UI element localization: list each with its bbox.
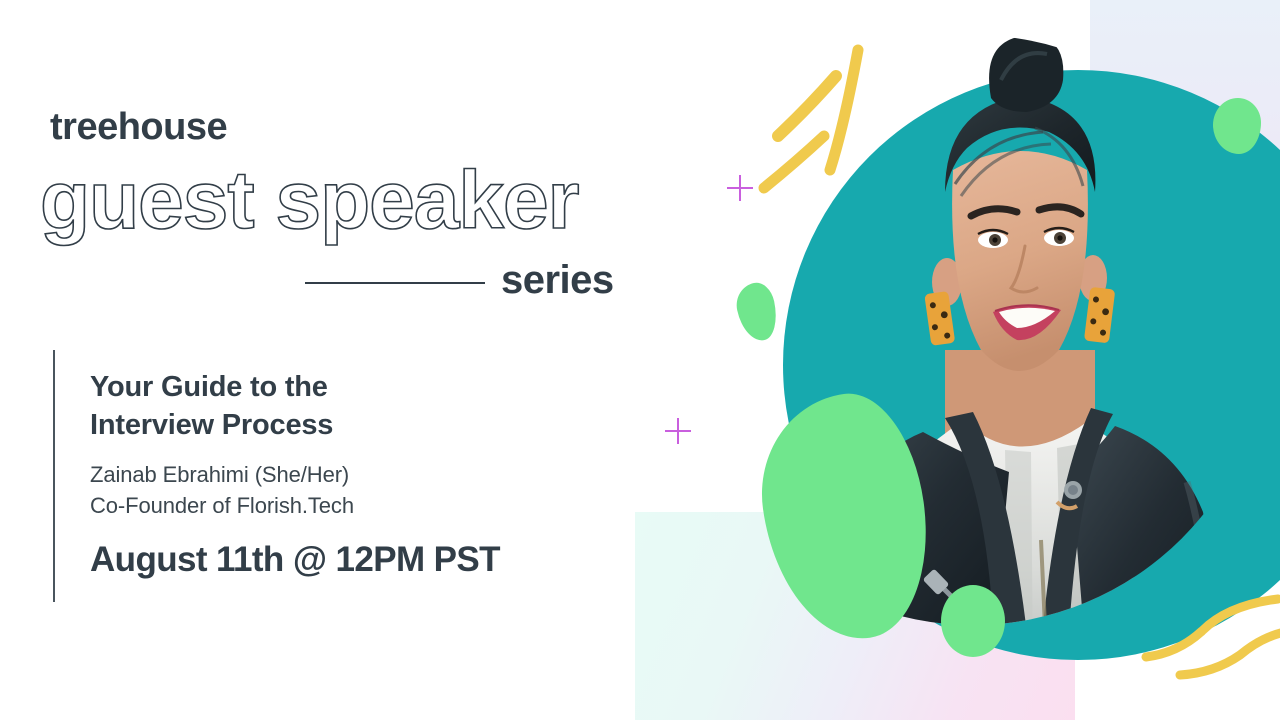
series-label: series xyxy=(501,256,614,304)
yellow-sunburst-icon xyxy=(740,30,930,220)
detail-block: Your Guide to the Interview Process Zain… xyxy=(90,368,630,580)
event-datetime: August 11th @ 12PM PST xyxy=(90,541,630,580)
copy-column: treehouse guest speaker series Your Guid… xyxy=(0,0,680,720)
talk-title-line-1: Your Guide to the xyxy=(90,368,630,406)
green-blob-left-icon xyxy=(732,280,781,345)
talk-title-line-2: Interview Process xyxy=(90,406,630,444)
promo-slide: treehouse guest speaker series Your Guid… xyxy=(0,0,1280,720)
headline-outline-text: guest speaker xyxy=(40,160,579,242)
magenta-plus-upper-icon xyxy=(727,175,753,201)
detail-vertical-rule xyxy=(53,350,55,602)
speaker-name: Zainab Ebrahimi (She/Her) xyxy=(90,459,630,490)
brand-wordmark: treehouse xyxy=(50,108,227,146)
yellow-squiggle-icon xyxy=(1140,575,1280,685)
series-row: series xyxy=(305,256,625,306)
speaker-role: Co-Founder of Florish.Tech xyxy=(90,490,630,521)
series-divider-rule xyxy=(305,282,485,284)
green-blob-round-icon xyxy=(941,585,1005,657)
